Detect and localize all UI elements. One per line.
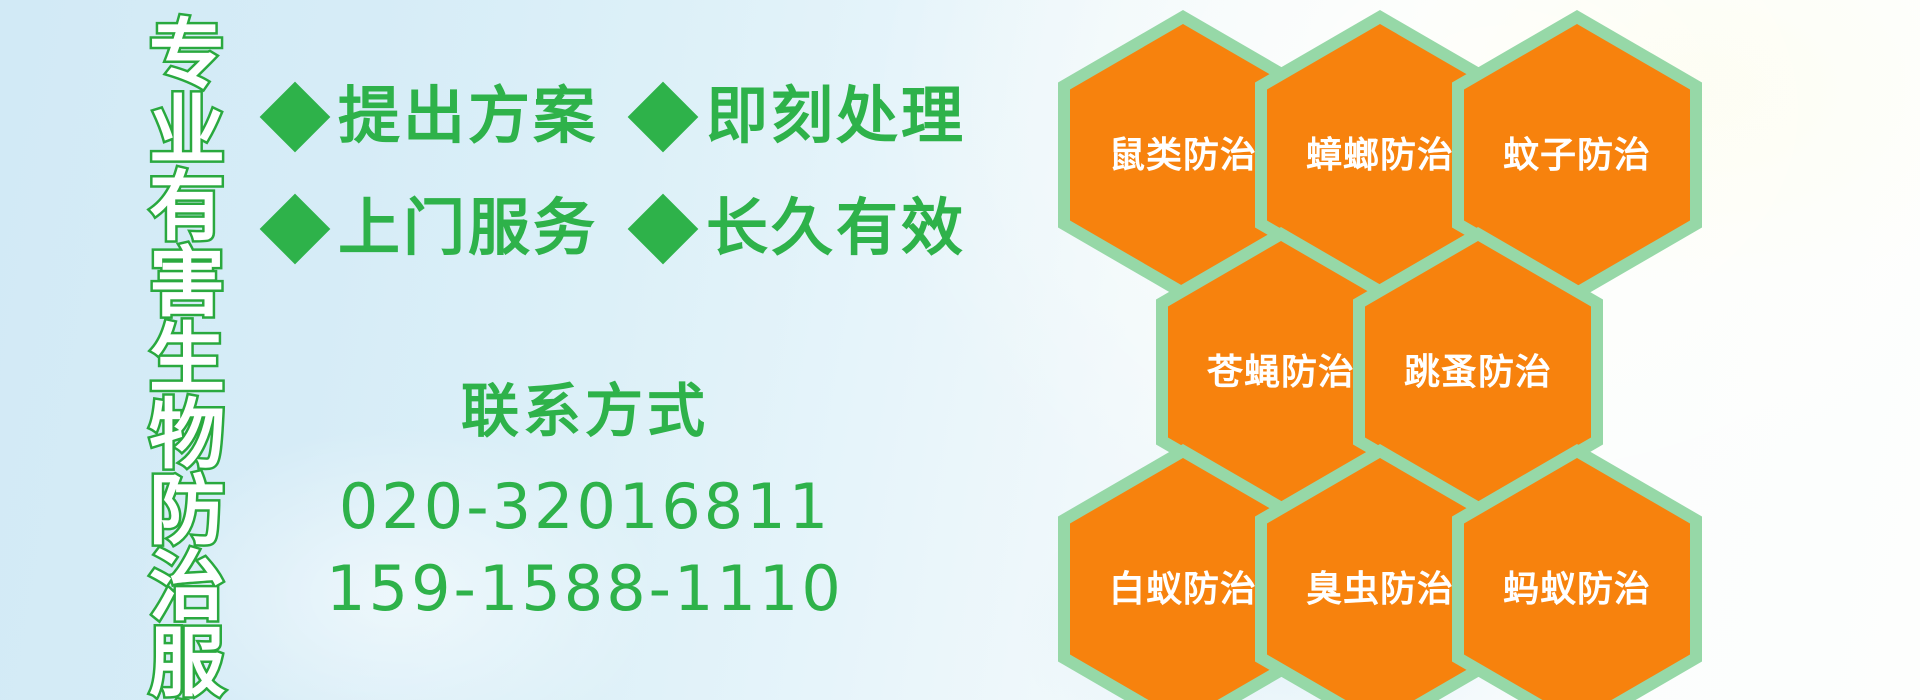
service-label: 蚊子防治 xyxy=(1503,137,1651,173)
vertical-headline: 专业有害生物防治服务 xyxy=(112,14,216,686)
feature-row-top: 提出方案 即刻处理 xyxy=(270,86,966,148)
diamond-icon xyxy=(260,82,331,153)
service-label: 臭虫防治 xyxy=(1306,571,1454,607)
pest-control-banner: 专业有害生物防治服务 提出方案 即刻处理 上门服务 长久有效 联系方式 020-… xyxy=(0,0,1920,700)
feature-row-bottom: 上门服务 长久有效 xyxy=(270,198,966,260)
diamond-icon xyxy=(628,82,699,153)
feature-item-2: 上门服务 xyxy=(270,198,598,260)
feature-label: 上门服务 xyxy=(338,198,598,260)
phone-number-landline[interactable]: 020-32016811 xyxy=(270,466,900,548)
service-honeycomb-grid: 鼠类防治 蟑螂防治 蚊子防治 苍蝇防治 跳蚤防治 xyxy=(1050,0,1850,700)
feature-item-0: 提出方案 xyxy=(270,86,598,148)
feature-label: 长久有效 xyxy=(706,198,966,260)
diamond-icon xyxy=(628,194,699,265)
feature-label: 即刻处理 xyxy=(706,86,966,148)
service-label: 鼠类防治 xyxy=(1109,137,1257,173)
service-label: 苍蝇防治 xyxy=(1207,354,1355,390)
diamond-icon xyxy=(260,194,331,265)
service-label: 蚂蚁防治 xyxy=(1503,571,1651,607)
feature-item-3: 长久有效 xyxy=(638,198,966,260)
phone-number-mobile[interactable]: 159-1588-1110 xyxy=(270,548,900,630)
service-label: 蟑螂防治 xyxy=(1306,137,1454,173)
service-hex-ant[interactable]: 蚂蚁防治 xyxy=(1452,444,1702,700)
service-label: 白蚁防治 xyxy=(1109,571,1257,607)
service-label: 跳蚤防治 xyxy=(1404,354,1552,390)
feature-label: 提出方案 xyxy=(338,86,598,148)
contact-heading: 联系方式 xyxy=(270,380,900,444)
feature-item-1: 即刻处理 xyxy=(638,86,966,148)
contact-block: 联系方式 020-32016811 159-1588-1110 xyxy=(270,380,900,629)
